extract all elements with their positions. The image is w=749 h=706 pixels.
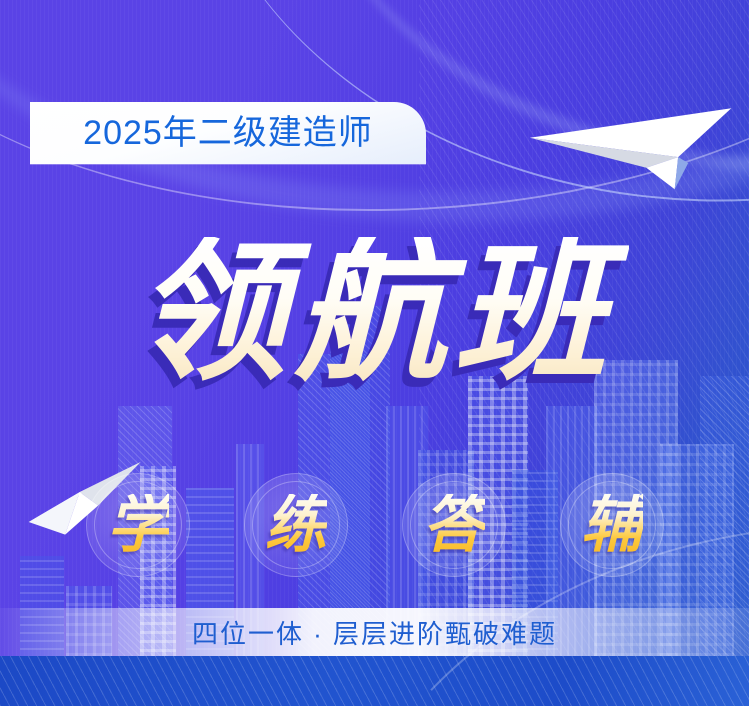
feature-item-xue: 学 <box>86 473 190 577</box>
feature-char: 练 <box>264 494 326 556</box>
feature-item-da: 答 <box>402 473 506 577</box>
strip-hatch-texture <box>0 656 749 706</box>
course-year-badge: 2025年二级建造师 <box>30 102 426 164</box>
promo-banner: 2025年二级建造师 领航班 学 练 答 辅 <box>0 0 749 706</box>
badge-label: 2025年二级建造师 <box>83 116 373 150</box>
main-title-wrapper: 领航班 <box>0 228 749 398</box>
paper-plane-icon <box>527 102 735 198</box>
feature-list: 学 练 答 辅 <box>0 470 749 580</box>
tagline-text: 四位一体 · 层层进阶甄破难题 <box>0 608 749 656</box>
feature-char: 辅 <box>580 494 642 556</box>
feature-item-fu: 辅 <box>560 473 664 577</box>
feature-item-lian: 练 <box>244 473 348 577</box>
page-title: 领航班 <box>121 237 629 389</box>
feature-char: 答 <box>422 494 484 556</box>
bottom-blue-strip <box>0 656 749 706</box>
feature-char: 学 <box>106 494 168 556</box>
